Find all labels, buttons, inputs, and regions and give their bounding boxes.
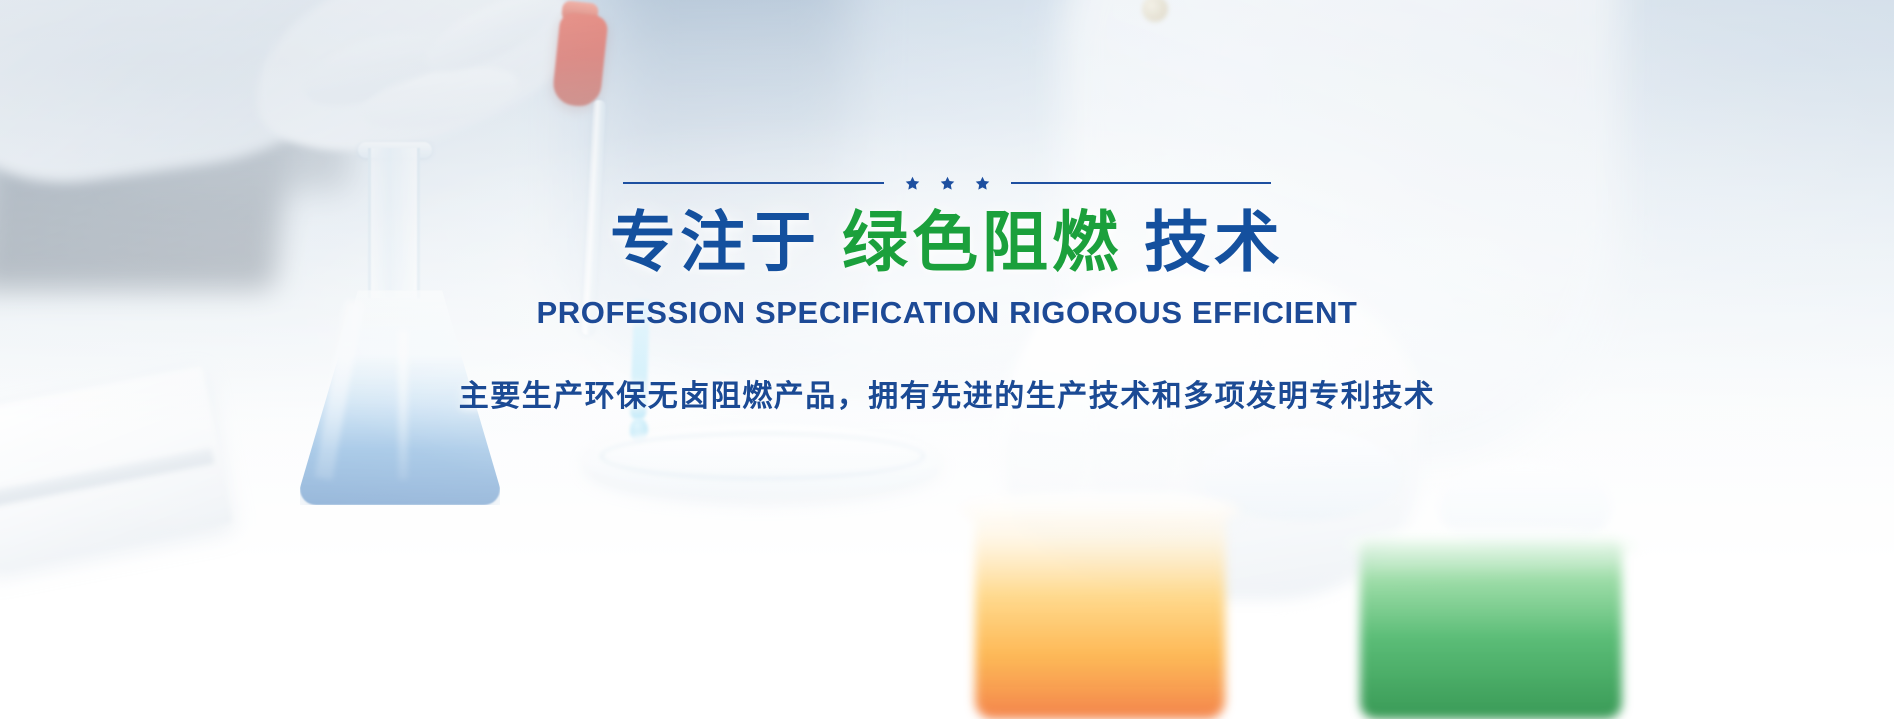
star-icon bbox=[904, 175, 921, 192]
divider-rule-right bbox=[1011, 182, 1272, 184]
banner-content: 专注于绿色阻燃技术 PROFESSION SPECIFICATION RIGOR… bbox=[0, 0, 1894, 719]
page-tagline: 主要生产环保无卤阻燃产品，拥有先进的生产技术和多项发明专利技术 bbox=[459, 371, 1436, 415]
page-title: 专注于绿色阻燃技术 bbox=[610, 208, 1284, 278]
headline-part-1: 专注于 bbox=[610, 205, 820, 279]
divider bbox=[623, 176, 1271, 190]
star-icon bbox=[939, 175, 956, 192]
star-icon bbox=[974, 175, 991, 192]
divider-stars bbox=[904, 175, 991, 192]
headline-part-2: 绿色阻燃 bbox=[842, 205, 1122, 279]
page-subtitle: PROFESSION SPECIFICATION RIGOROUS EFFICI… bbox=[537, 295, 1358, 331]
hero-banner: 专注于绿色阻燃技术 PROFESSION SPECIFICATION RIGOR… bbox=[0, 0, 1894, 719]
headline-part-3: 技术 bbox=[1144, 205, 1284, 279]
divider-rule-left bbox=[623, 182, 884, 184]
